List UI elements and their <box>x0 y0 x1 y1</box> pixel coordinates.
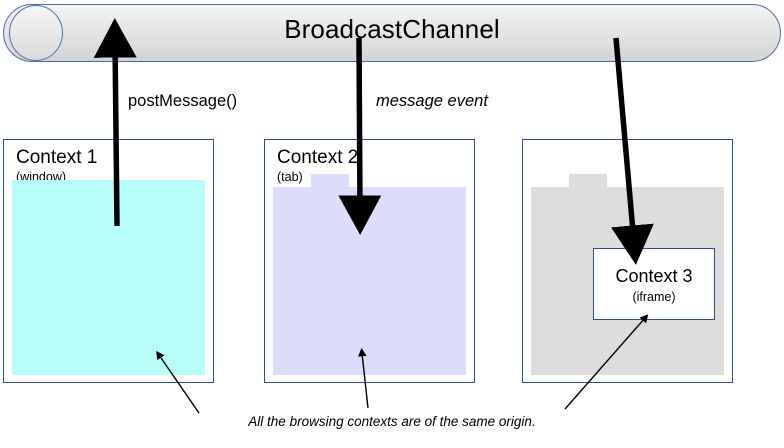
context-box-2: Context 2 (tab) <box>264 139 475 383</box>
context-2-title: Context 2 <box>277 147 358 169</box>
context-box-3-iframe: Context 3 (iframe) <box>593 248 715 320</box>
arrow-label-postmessage: postMessage() <box>128 92 237 111</box>
context-3-tab-stub <box>569 174 607 187</box>
context-2-subtitle: (tab) <box>277 170 303 184</box>
context-box-1: Context 1 (window) <box>3 139 214 383</box>
context-3-title: Context 3 <box>594 266 714 287</box>
arrow-label-message-event: message event <box>376 92 488 111</box>
context-3-subtitle: (iframe) <box>594 290 714 304</box>
channel-title: BroadcastChannel <box>3 14 781 45</box>
context-2-tab-stub <box>311 174 349 187</box>
context-2-viewport <box>273 187 466 375</box>
context-1-title: Context 1 <box>16 147 97 169</box>
footnote-caption: All the browsing contexts are of the sam… <box>0 414 784 429</box>
diagram-canvas: BroadcastChannel postMessage() message e… <box>0 0 784 448</box>
broadcast-channel-cylinder: BroadcastChannel <box>3 4 781 62</box>
context-1-viewport <box>12 180 205 375</box>
